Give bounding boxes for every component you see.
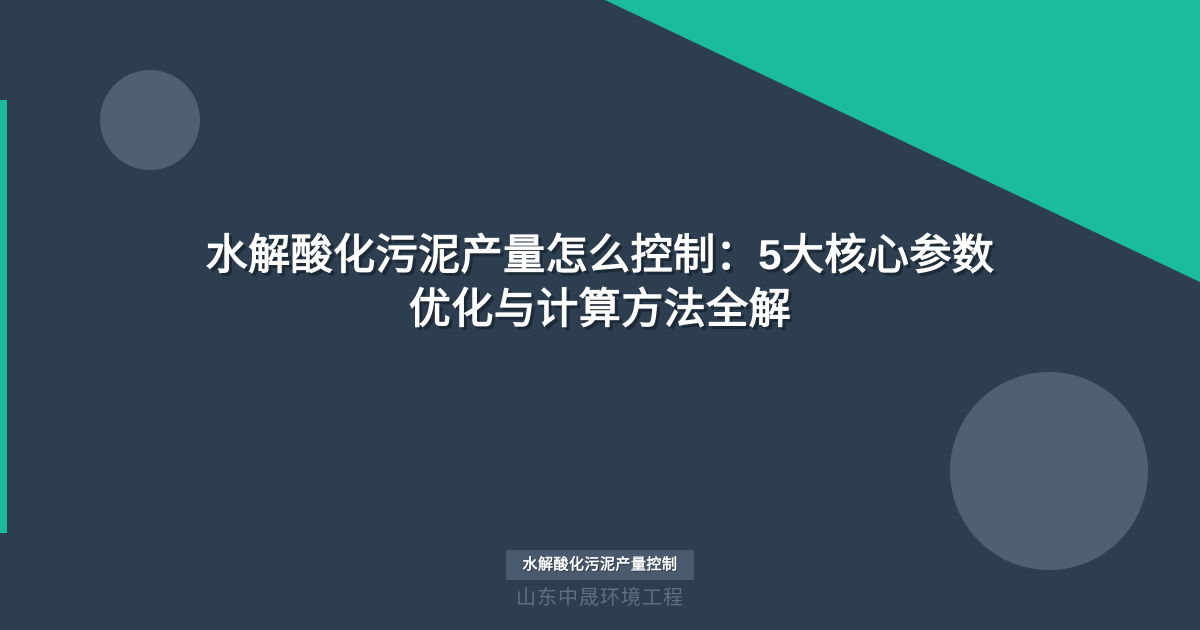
poster-canvas: 水解酸化污泥产量怎么控制：5大核心参数 优化与计算方法全解 水解酸化污泥产量控制… xyxy=(0,0,1200,630)
brand-name: 山东中晟环境工程 xyxy=(516,588,684,608)
headline-line-2: 优化与计算方法全解 xyxy=(70,282,1130,336)
decor-circle-bottom-right xyxy=(950,372,1148,570)
page-title: 水解酸化污泥产量怎么控制：5大核心参数 优化与计算方法全解 xyxy=(0,228,1200,336)
decor-circle-top-left xyxy=(100,70,200,170)
headline-line-1: 水解酸化污泥产量怎么控制：5大核心参数 xyxy=(70,228,1130,282)
topic-tag-badge: 水解酸化污泥产量控制 xyxy=(506,550,693,580)
badge-container: 水解酸化污泥产量控制 xyxy=(0,550,1200,580)
brand-container: 山东中晟环境工程 xyxy=(0,588,1200,609)
